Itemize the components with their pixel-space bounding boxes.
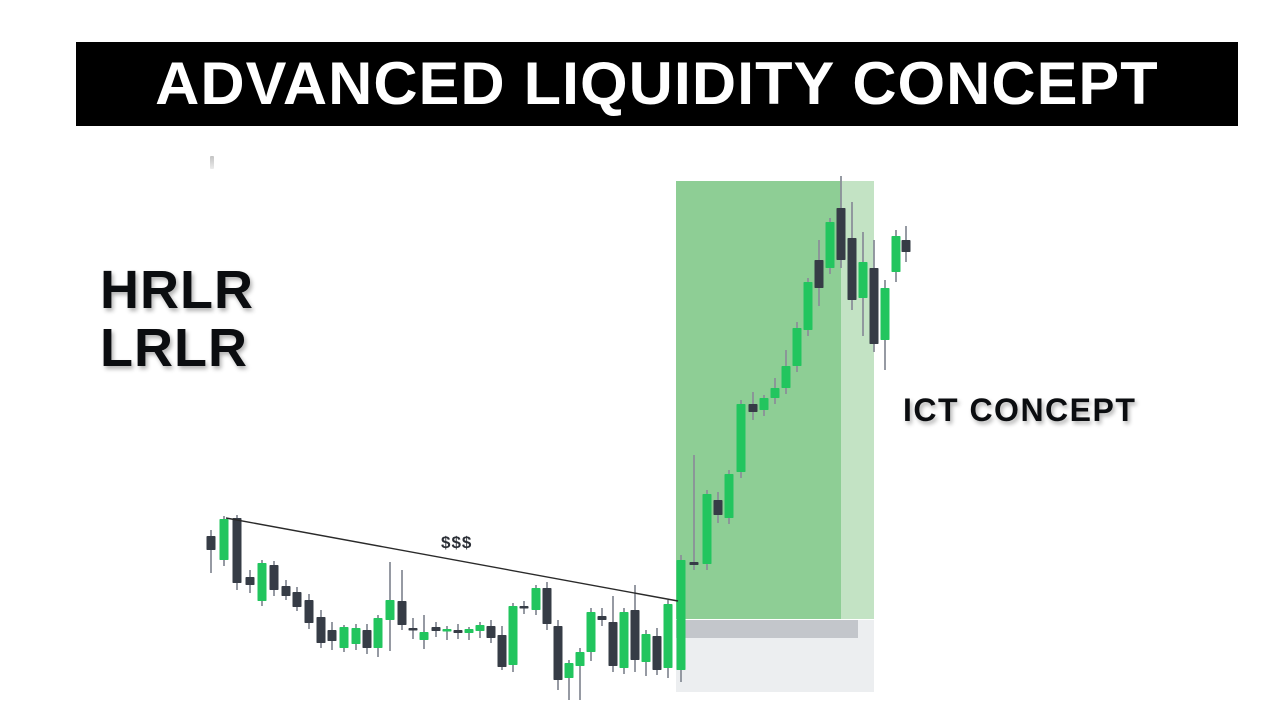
descending-resistance-trendline (0, 0, 1280, 720)
trendline-segment (226, 518, 678, 601)
liquidity-pool-label: $$$ (441, 533, 472, 553)
candlestick-chart: $$$ (0, 0, 1280, 720)
